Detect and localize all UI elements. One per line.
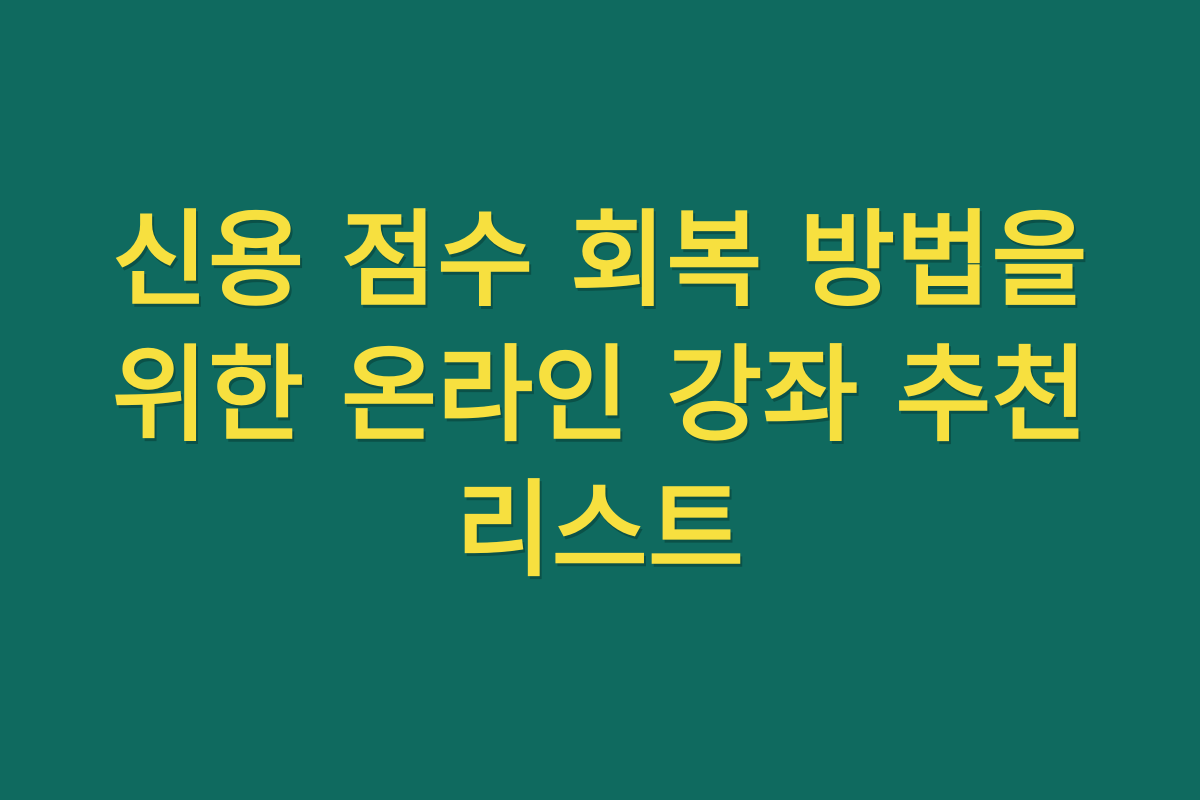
title-line-2: 위한 온라인 강좌 추천 xyxy=(95,328,1105,463)
title-card: 신용 점수 회복 방법을 위한 온라인 강좌 추천 리스트 xyxy=(0,0,1200,800)
title-block: 신용 점수 회복 방법을 위한 온라인 강좌 추천 리스트 xyxy=(95,193,1105,598)
title-line-1: 신용 점수 회복 방법을 xyxy=(95,193,1105,328)
title-line-3: 리스트 xyxy=(95,463,1105,598)
